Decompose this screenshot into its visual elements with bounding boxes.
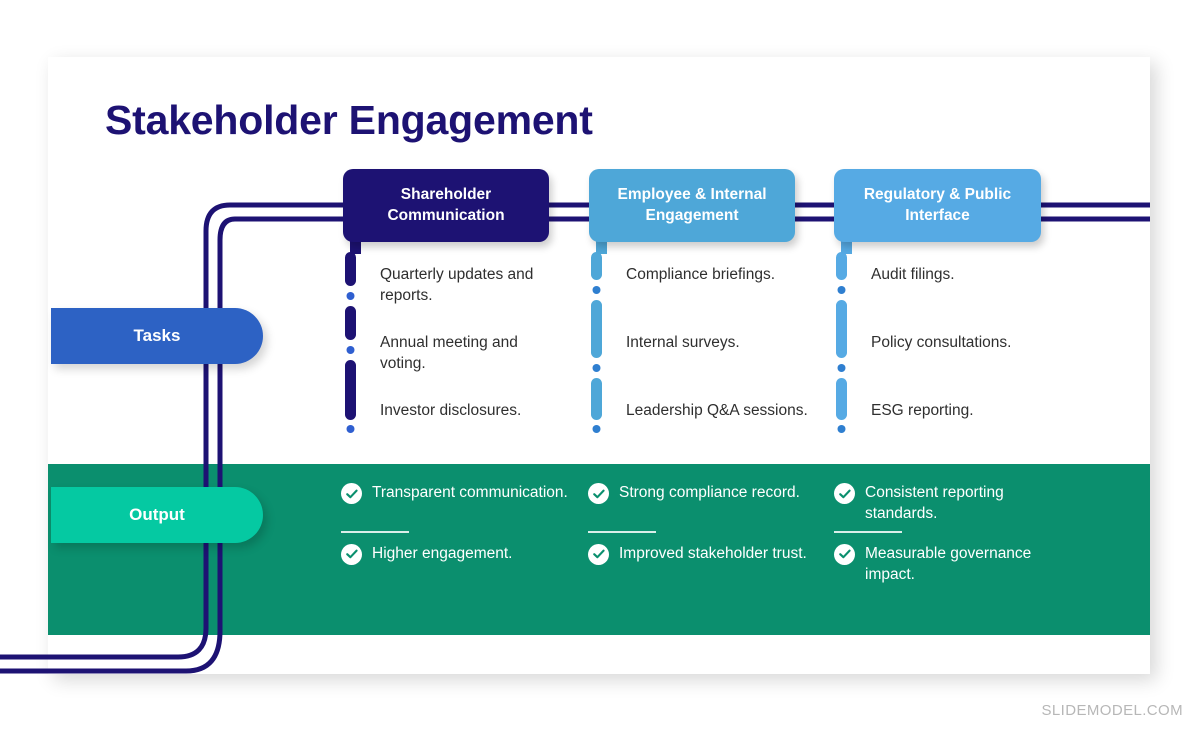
output-item-label: Consistent reporting standards. <box>865 482 1064 525</box>
watermark: SLIDEMODEL.COM <box>1042 702 1183 719</box>
output-divider <box>834 531 902 533</box>
task-item: Audit filings. <box>871 264 1056 332</box>
column-header-employee-internal-engagement[interactable]: Employee & Internal Engagement <box>589 169 795 242</box>
column-header-label: Employee & Internal Engagement <box>599 185 785 225</box>
slide-canvas: Shareholder Communication Employee & Int… <box>0 0 1200 743</box>
task-list-3: Audit filings. Policy consultations. ESG… <box>871 264 1056 468</box>
header-stem-3 <box>841 240 852 254</box>
task-item: Annual meeting and voting. <box>380 332 565 400</box>
check-circle-icon <box>834 483 855 504</box>
output-item: Improved stakeholder trust. <box>588 543 818 581</box>
column-header-label: Regulatory & Public Interface <box>844 185 1031 225</box>
check-circle-icon <box>588 544 609 565</box>
output-divider <box>588 531 656 533</box>
output-column-2: Strong compliance record. Improved stake… <box>588 482 818 581</box>
column-header-label: Shareholder Communication <box>353 185 539 225</box>
column-header-shareholder-communication[interactable]: Shareholder Communication <box>343 169 549 242</box>
output-item: Higher engagement. <box>341 543 571 581</box>
stage-pill-label: Tasks <box>134 326 181 346</box>
stage-pill-label: Output <box>129 505 185 525</box>
task-rail-2 <box>591 252 602 435</box>
output-column-1: Transparent communication. Higher engage… <box>341 482 571 581</box>
task-list-1: Quarterly updates and reports. Annual me… <box>380 264 565 468</box>
output-item-label: Transparent communication. <box>372 482 568 503</box>
column-header-regulatory-public-interface[interactable]: Regulatory & Public Interface <box>834 169 1041 242</box>
header-stem-2 <box>596 240 607 254</box>
header-stem-1 <box>350 240 361 254</box>
task-list-2: Compliance briefings. Internal surveys. … <box>626 264 811 468</box>
check-circle-icon <box>341 483 362 504</box>
page-title: Stakeholder Engagement <box>105 97 593 144</box>
output-item: Consistent reporting standards. <box>834 482 1064 520</box>
task-item: Investor disclosures. <box>380 400 565 468</box>
output-item: Transparent communication. <box>341 482 571 520</box>
output-item-label: Higher engagement. <box>372 543 512 564</box>
stage-pill-output[interactable]: Output <box>51 487 263 543</box>
output-item-label: Measurable governance impact. <box>865 543 1064 586</box>
stage-pill-tasks[interactable]: Tasks <box>51 308 263 364</box>
check-circle-icon <box>588 483 609 504</box>
task-item: ESG reporting. <box>871 400 1056 468</box>
check-circle-icon <box>834 544 855 565</box>
output-item-label: Strong compliance record. <box>619 482 800 503</box>
task-rail-1 <box>345 252 356 435</box>
task-item: Internal surveys. <box>626 332 811 400</box>
output-item: Strong compliance record. <box>588 482 818 520</box>
task-rail-3 <box>836 252 847 435</box>
task-item: Compliance briefings. <box>626 264 811 332</box>
output-item: Measurable governance impact. <box>834 543 1064 581</box>
task-item: Leadership Q&A sessions. <box>626 400 811 468</box>
output-divider <box>341 531 409 533</box>
output-item-label: Improved stakeholder trust. <box>619 543 807 564</box>
output-column-3: Consistent reporting standards. Measurab… <box>834 482 1064 581</box>
task-item: Policy consultations. <box>871 332 1056 400</box>
check-circle-icon <box>341 544 362 565</box>
task-item: Quarterly updates and reports. <box>380 264 565 332</box>
